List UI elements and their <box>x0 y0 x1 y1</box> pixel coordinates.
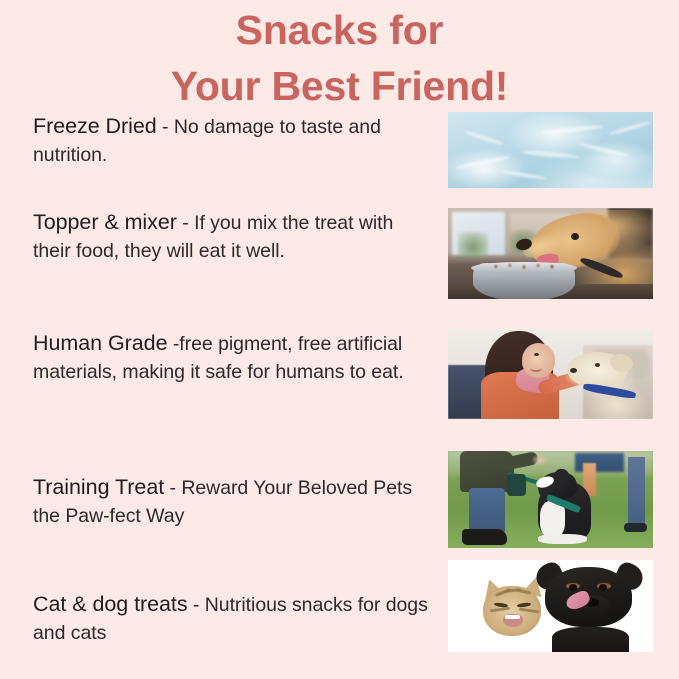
cat-head <box>483 586 541 636</box>
collie-chest <box>540 501 565 538</box>
feature-term: Freeze Dried <box>33 114 157 138</box>
feature-row: Human Grade -free pigment, free artifici… <box>0 322 679 450</box>
dog-eye <box>599 584 607 591</box>
dog-head <box>545 567 631 627</box>
feature-text: Cat & dog treats - Nutritious snacks for… <box>33 590 431 647</box>
puppy-nose <box>570 368 577 373</box>
feature-text: Human Grade -free pigment, free artifici… <box>33 329 431 386</box>
ice-texture-image <box>448 112 653 188</box>
feature-row: Cat & dog treats - Nutritious snacks for… <box>0 566 679 676</box>
feature-image <box>448 208 653 299</box>
bystander-leg <box>628 457 644 527</box>
feature-text: Topper & mixer - If you mix the treat wi… <box>33 208 431 265</box>
trainer-boot <box>462 529 507 545</box>
feature-text: Training Treat - Reward Your Beloved Pet… <box>33 473 431 530</box>
bystander-shoe <box>624 523 647 533</box>
leash-handle <box>507 474 525 495</box>
woman-smile <box>530 365 542 372</box>
cat-stripe <box>516 589 531 595</box>
collie-paws <box>538 534 587 544</box>
cat-stripe <box>490 607 510 613</box>
page-title: Snacks for Your Best Friend! <box>0 2 679 114</box>
feature-term: Human Grade <box>33 331 168 355</box>
feature-row: Freeze Dried - No damage to taste and nu… <box>0 106 679 202</box>
feature-text: Freeze Dried - No damage to taste and nu… <box>33 112 431 169</box>
dog-chest <box>552 627 629 652</box>
feature-image <box>448 112 653 188</box>
product-feature-infographic: Snacks for Your Best Friend! Freeze Drie… <box>0 0 679 679</box>
feature-row: Topper & mixer - If you mix the treat wi… <box>0 202 679 322</box>
woman-face <box>522 343 555 377</box>
kibble <box>485 261 563 272</box>
cat-teeth <box>505 615 520 619</box>
feature-term: Cat & dog treats <box>33 592 188 616</box>
dog-eye <box>569 584 577 591</box>
puppy-eye <box>595 363 600 367</box>
feature-image <box>448 451 653 548</box>
cat-eye <box>517 602 531 608</box>
feature-row: Training Treat - Reward Your Beloved Pet… <box>0 450 679 566</box>
cat-and-dog-image <box>448 560 653 652</box>
dog <box>534 562 645 652</box>
page-title-line-1: Snacks for <box>0 2 679 58</box>
trainer-jeans <box>469 488 506 535</box>
woman-feeding-puppy-image <box>448 329 653 419</box>
feature-image <box>448 329 653 419</box>
trainer-hand <box>532 454 548 466</box>
training-on-grass-image <box>448 451 653 548</box>
ice-background <box>448 112 653 188</box>
feature-term: Topper & mixer <box>33 210 177 234</box>
plant-shape <box>458 232 488 258</box>
dog-at-bowl-image <box>448 208 653 299</box>
feature-image <box>448 560 653 652</box>
cat-eye <box>494 602 508 608</box>
feature-term: Training Treat <box>33 475 164 499</box>
